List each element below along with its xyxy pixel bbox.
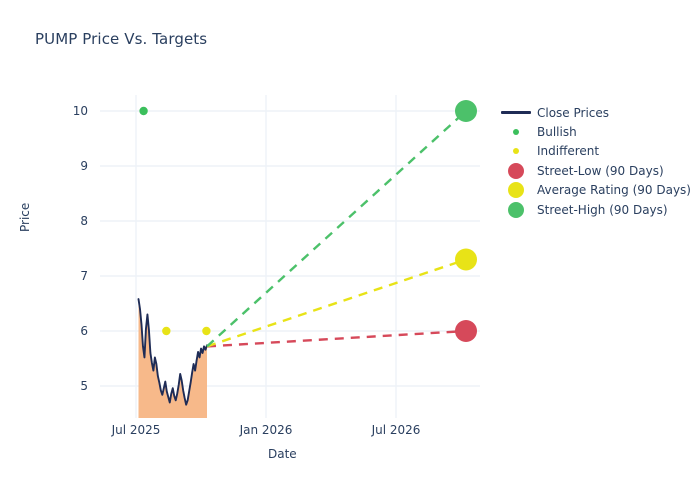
dot-swatch-icon — [508, 163, 524, 179]
chart-legend: Close PricesBullishIndifferentStreet-Low… — [497, 103, 697, 219]
x-tick-label: Jul 2026 — [372, 423, 421, 437]
legend-item[interactable]: Street-High (90 Days) — [497, 200, 697, 219]
y-axis-title: Price — [18, 203, 32, 232]
legend-marker-icon — [497, 161, 535, 180]
legend-item-label: Close Prices — [535, 106, 609, 120]
legend-marker-icon — [497, 123, 535, 142]
x-axis-title: Date — [268, 447, 297, 461]
legend-item-label: Street-Low (90 Days) — [535, 164, 664, 178]
legend-item-label: Bullish — [535, 125, 577, 139]
y-tick-label: 6 — [48, 324, 88, 338]
line-swatch-icon — [501, 111, 531, 114]
legend-item[interactable]: Bullish — [497, 122, 697, 141]
legend-item[interactable]: Average Rating (90 Days) — [497, 181, 697, 200]
legend-marker-icon — [497, 200, 535, 219]
dot-swatch-icon — [508, 182, 524, 198]
legend-item-label: Street-High (90 Days) — [535, 203, 668, 217]
y-tick-label: 9 — [48, 159, 88, 173]
plot-area — [0, 0, 700, 500]
legend-marker-icon — [497, 103, 535, 122]
legend-item-label: Indifferent — [535, 144, 599, 158]
legend-item-label: Average Rating (90 Days) — [535, 183, 691, 197]
dot-swatch-icon — [513, 129, 519, 135]
y-axis-ticks: 5678910 — [40, 0, 88, 500]
legend-item[interactable]: Street-Low (90 Days) — [497, 161, 697, 180]
data-series-layer — [139, 100, 478, 418]
y-tick-label: 7 — [48, 269, 88, 283]
dot-swatch-icon — [513, 148, 519, 154]
x-tick-label: Jul 2025 — [112, 423, 161, 437]
y-tick-label: 5 — [48, 379, 88, 393]
legend-item[interactable]: Indifferent — [497, 142, 697, 161]
legend-item[interactable]: Close Prices — [497, 103, 697, 122]
y-tick-label: 8 — [48, 214, 88, 228]
legend-marker-icon — [497, 181, 535, 200]
y-tick-label: 10 — [48, 104, 88, 118]
x-tick-label: Jan 2026 — [240, 423, 293, 437]
chart-container: PUMP Price Vs. Targets 5678910 Jul 2025J… — [0, 0, 700, 500]
legend-marker-icon — [497, 142, 535, 161]
dot-swatch-icon — [508, 202, 524, 218]
